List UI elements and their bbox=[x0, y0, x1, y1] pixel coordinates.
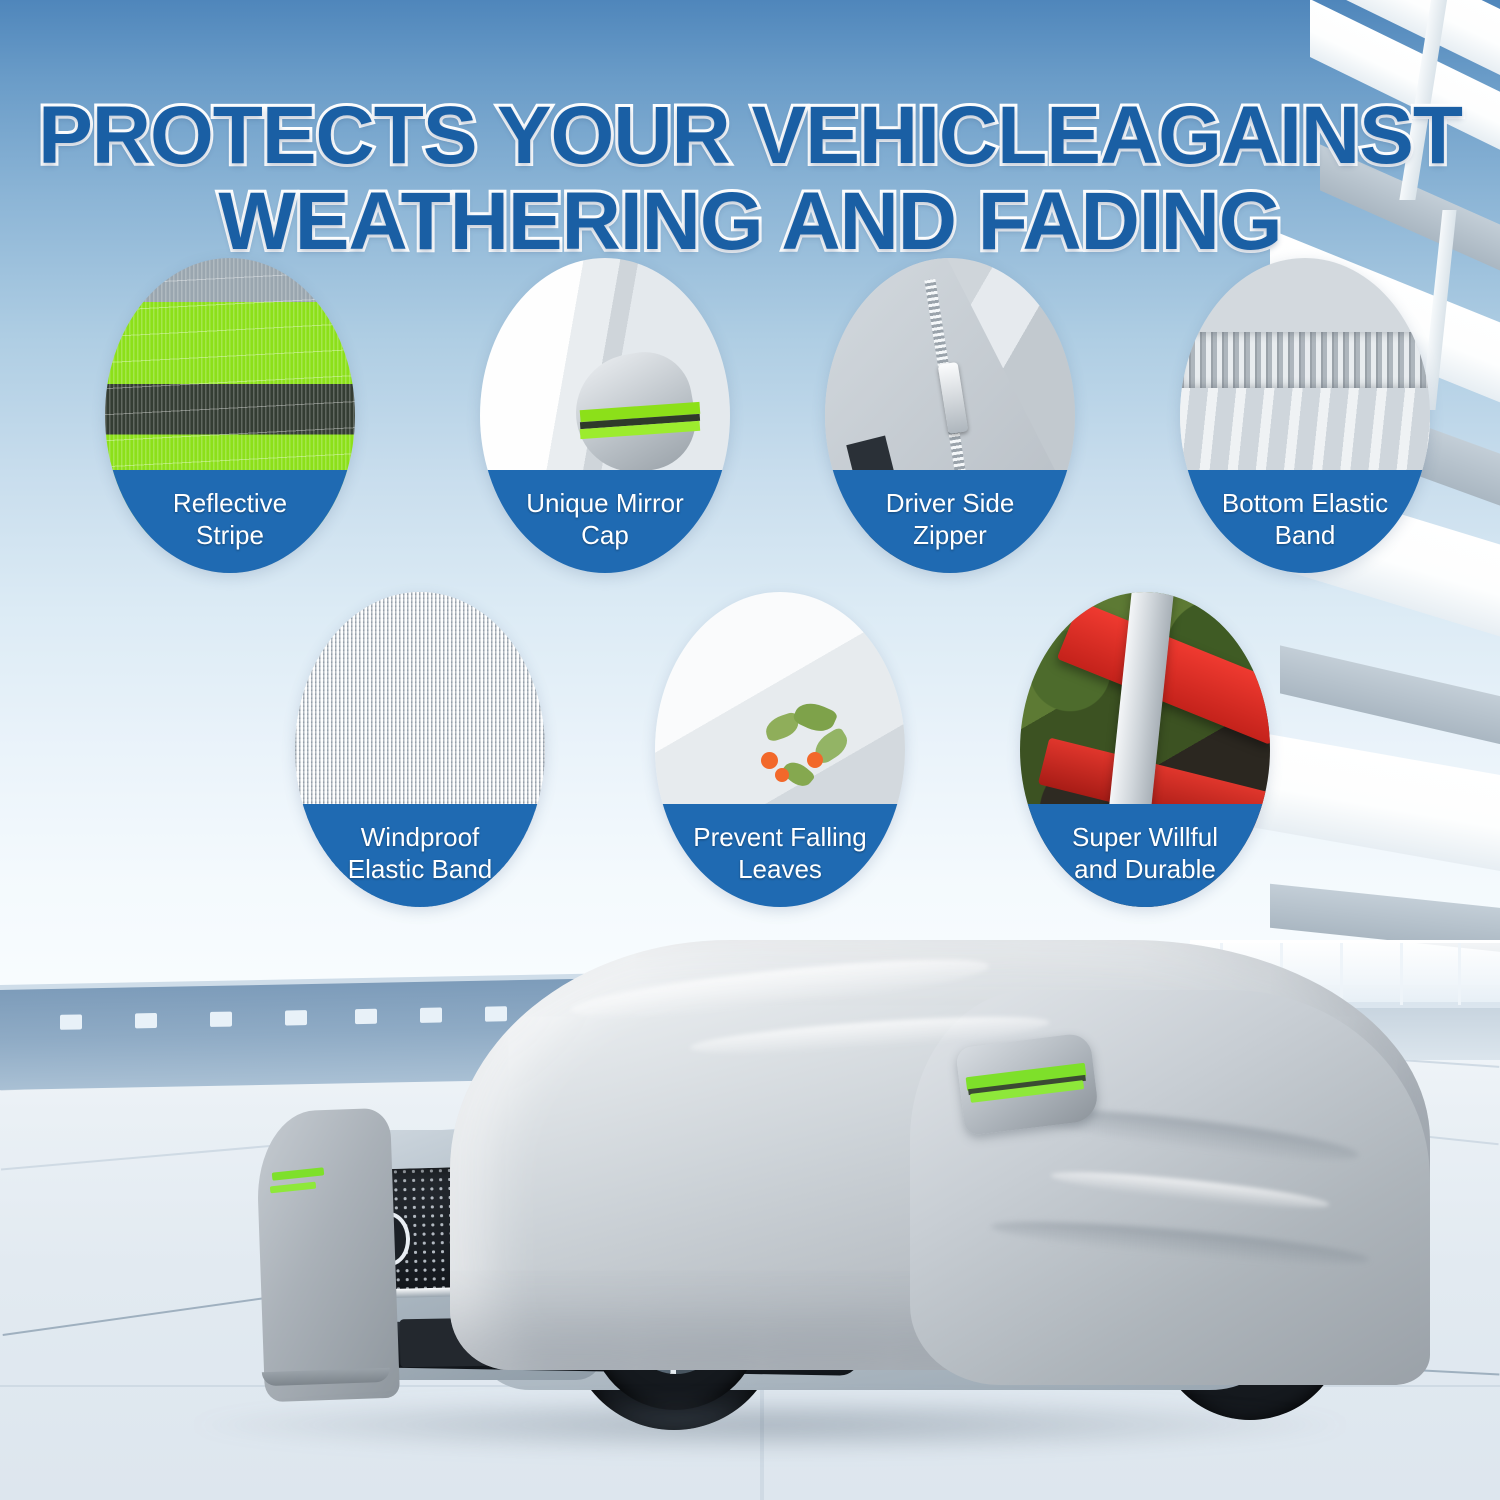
feature-disc: Reflective Stripe bbox=[105, 258, 355, 573]
berry bbox=[761, 752, 778, 769]
caption-line-2: Band bbox=[1275, 520, 1336, 550]
caption-line-1: Driver Side bbox=[886, 488, 1015, 518]
feature-super-willful-and-durable[interactable]: Super Willful and Durable bbox=[1020, 592, 1270, 907]
page-title: PROTECTS YOUR VEHICLEAGAINST WEATHERING … bbox=[0, 93, 1500, 265]
feature-caption: Windproof Elastic Band bbox=[295, 804, 545, 907]
feature-caption: Bottom Elastic Band bbox=[1180, 470, 1430, 573]
feature-disc: Unique Mirror Cap bbox=[480, 258, 730, 573]
feature-caption: Unique Mirror Cap bbox=[480, 470, 730, 573]
elastic-ruching bbox=[1180, 332, 1430, 388]
headline-line-1: PROTECTS YOUR VEHICLEAGAINST bbox=[38, 90, 1462, 181]
car-cover-front-skirt bbox=[255, 1108, 400, 1403]
feature-disc: Driver Side Zipper bbox=[825, 258, 1075, 573]
feature-caption: Driver Side Zipper bbox=[825, 470, 1075, 573]
feature-disc: Super Willful and Durable bbox=[1020, 592, 1270, 907]
feature-disc: Bottom Elastic Band bbox=[1180, 258, 1430, 573]
caption-line-1: Super Willful bbox=[1072, 822, 1218, 852]
feature-windproof-elastic-band[interactable]: Windproof Elastic Band bbox=[295, 592, 545, 907]
caption-line-1: Prevent Falling bbox=[693, 822, 866, 852]
caption-line-2: Stripe bbox=[196, 520, 264, 550]
feature-caption: Reflective Stripe bbox=[105, 470, 355, 573]
caption-line-1: Reflective bbox=[173, 488, 287, 518]
feature-driver-side-zipper[interactable]: Driver Side Zipper bbox=[825, 258, 1075, 573]
covered-vehicle bbox=[150, 930, 1430, 1450]
feature-prevent-falling-leaves[interactable]: Prevent Falling Leaves bbox=[655, 592, 905, 907]
caption-line-2: Leaves bbox=[738, 854, 822, 884]
caption-line-2: and Durable bbox=[1074, 854, 1216, 884]
feature-caption: Super Willful and Durable bbox=[1020, 804, 1270, 907]
berry bbox=[807, 752, 823, 768]
caption-line-2: Elastic Band bbox=[348, 854, 493, 884]
feature-reflective-stripe[interactable]: Reflective Stripe bbox=[105, 258, 355, 573]
caption-line-1: Unique Mirror bbox=[526, 488, 684, 518]
feature-unique-mirror-cap[interactable]: Unique Mirror Cap bbox=[480, 258, 730, 573]
feature-disc: Windproof Elastic Band bbox=[295, 592, 545, 907]
product-infographic: PROTECTS YOUR VEHICLEAGAINST WEATHERING … bbox=[0, 0, 1500, 1500]
feature-disc: Prevent Falling Leaves bbox=[655, 592, 905, 907]
caption-line-1: Windproof bbox=[361, 822, 480, 852]
caption-line-2: Cap bbox=[581, 520, 629, 550]
feature-caption: Prevent Falling Leaves bbox=[655, 804, 905, 907]
feature-bottom-elastic-band[interactable]: Bottom Elastic Band bbox=[1180, 258, 1430, 573]
caption-line-2: Zipper bbox=[913, 520, 987, 550]
vehicle-shadow bbox=[180, 1395, 1360, 1455]
headline-line-2: WEATHERING AND FADING bbox=[0, 179, 1500, 265]
caption-line-1: Bottom Elastic bbox=[1222, 488, 1388, 518]
berry bbox=[775, 768, 789, 782]
